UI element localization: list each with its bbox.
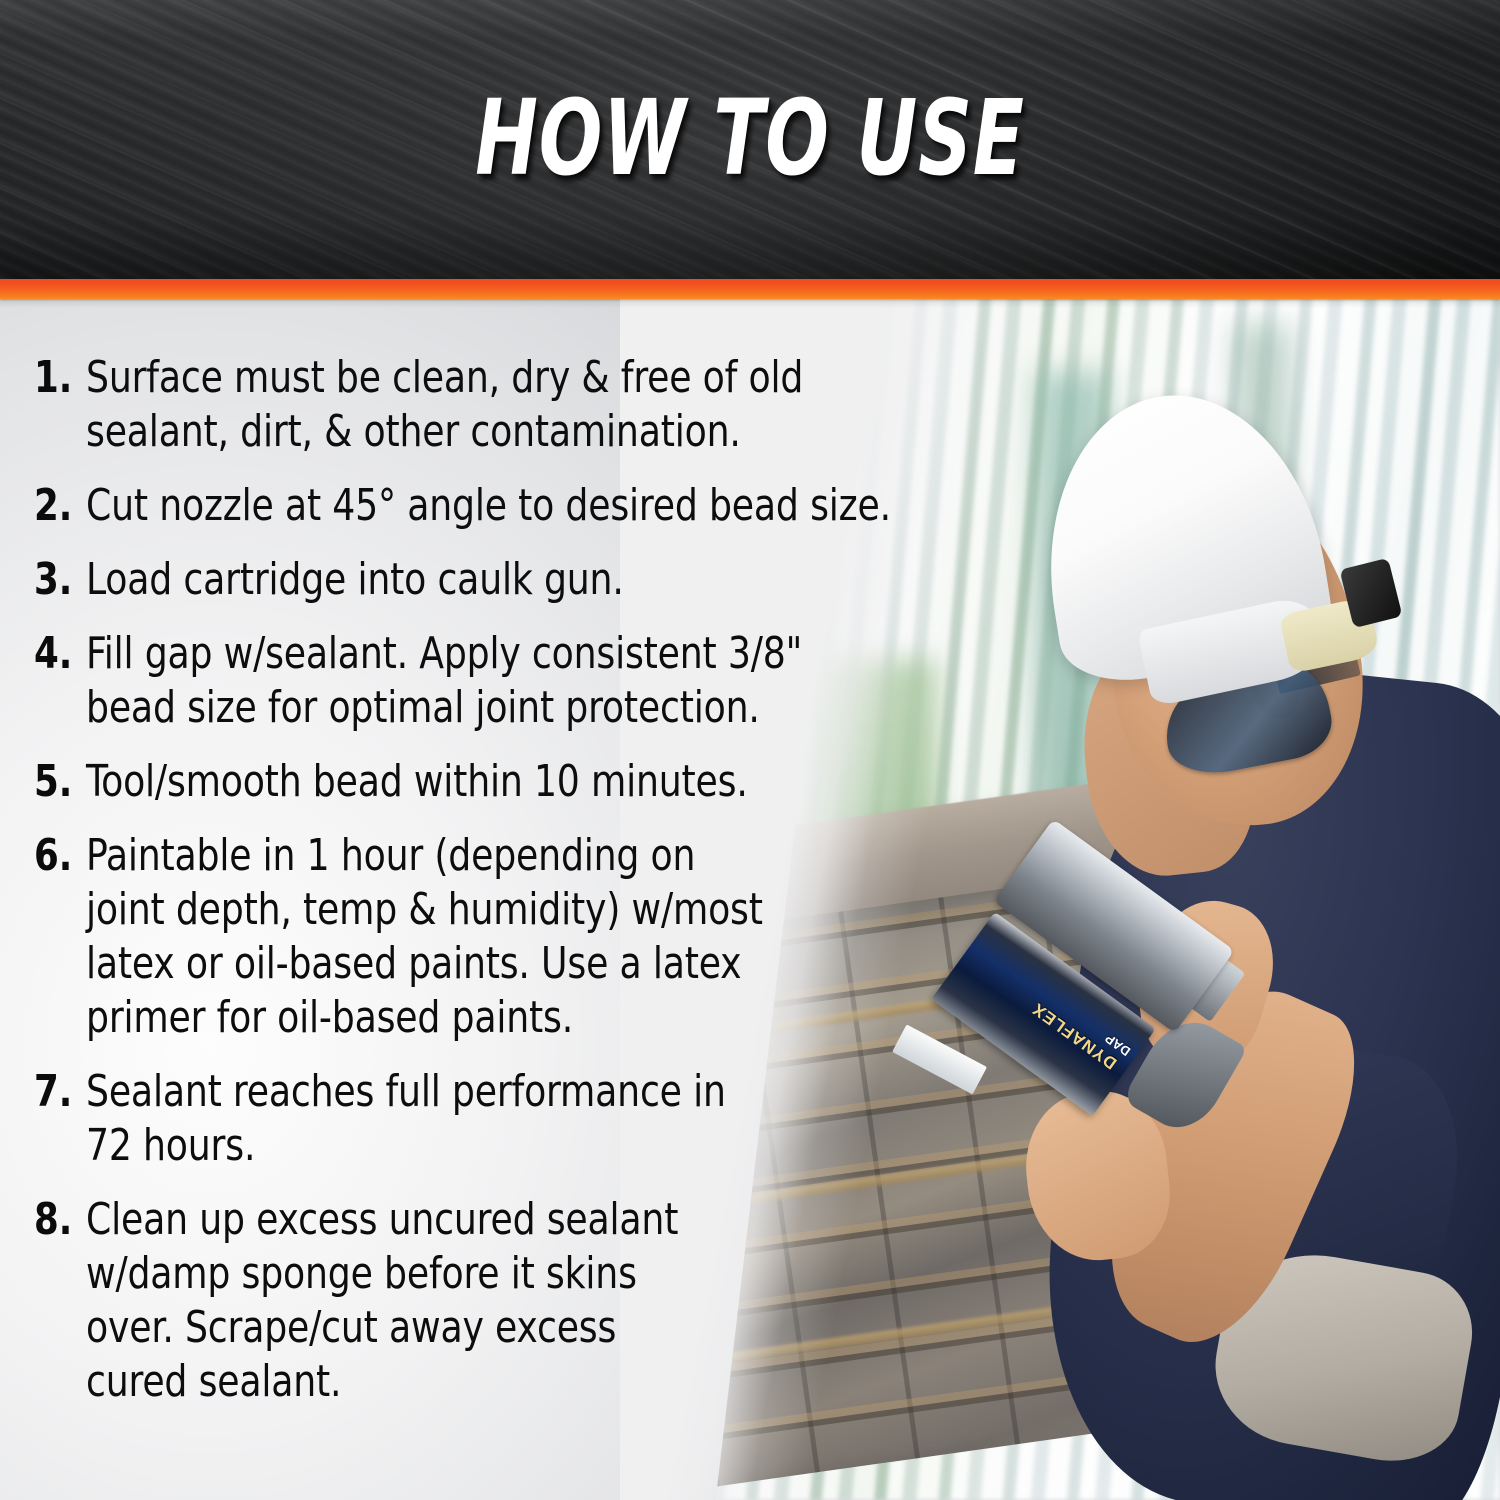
list-item: 7. Sealant reaches full performance in 7…	[34, 1065, 974, 1173]
step-number: 6.	[34, 829, 81, 883]
step-text: Surface must be clean, dry & free of old…	[86, 351, 899, 459]
content-area: DYNAFLEX DAP 1. Surface must be clean, d…	[0, 299, 1500, 1500]
step-number: 4.	[34, 627, 81, 681]
step-number: 7.	[34, 1065, 81, 1119]
step-number: 2.	[34, 479, 81, 533]
step-text: Load cartridge into caulk gun.	[86, 553, 899, 607]
how-to-use-poster: HOW TO USE	[0, 0, 1500, 1500]
list-item: 5. Tool/smooth bead within 10 minutes.	[34, 755, 974, 809]
step-number: 1.	[34, 351, 81, 405]
step-text: Clean up excess uncured sealant w/damp s…	[86, 1193, 690, 1409]
instruction-steps-list: 1. Surface must be clean, dry & free of …	[34, 351, 974, 1429]
step-text: Fill gap w/sealant. Apply consistent 3/8…	[86, 627, 809, 735]
list-item: 3. Load cartridge into caulk gun.	[34, 553, 974, 607]
list-item: 1. Surface must be clean, dry & free of …	[34, 351, 974, 459]
step-text: Tool/smooth bead within 10 minutes.	[86, 755, 899, 809]
list-item: 8. Clean up excess uncured sealant w/dam…	[34, 1193, 974, 1409]
step-number: 5.	[34, 755, 81, 809]
step-text: Sealant reaches full performance in 72 h…	[86, 1065, 736, 1173]
step-number: 3.	[34, 553, 81, 607]
list-item: 2. Cut nozzle at 45° angle to desired be…	[34, 479, 974, 533]
step-text: Cut nozzle at 45° angle to desired bead …	[86, 479, 899, 533]
step-number: 8.	[34, 1193, 81, 1247]
list-item: 6. Paintable in 1 hour (depending on joi…	[34, 829, 974, 1045]
step-text: Paintable in 1 hour (depending on joint …	[86, 829, 781, 1045]
list-item: 4. Fill gap w/sealant. Apply consistent …	[34, 627, 974, 735]
page-title: HOW TO USE	[150, 86, 1350, 190]
orange-accent-bar	[0, 279, 1500, 299]
header-banner: HOW TO USE	[0, 0, 1500, 279]
